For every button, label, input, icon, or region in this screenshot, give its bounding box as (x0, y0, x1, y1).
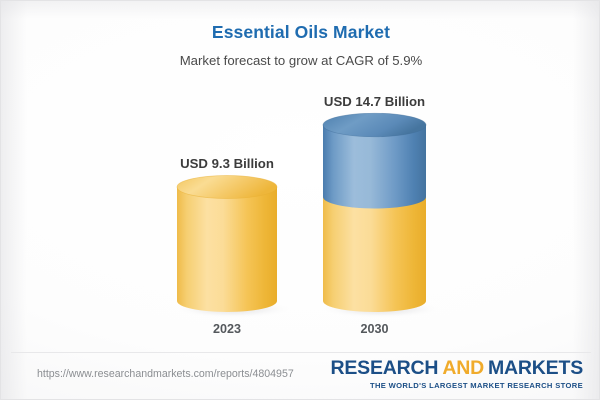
bar-category-label-2030: 2030 (323, 322, 426, 336)
infographic-canvas: Essential Oils Market Market forecast to… (0, 0, 600, 400)
footer: https://www.researchandmarkets.com/repor… (1, 352, 600, 399)
logo-wordmark: RESEARCHANDMARKETS (330, 358, 583, 379)
bar-category-label-2023: 2023 (177, 322, 277, 336)
chart-subtitle: Market forecast to grow at CAGR of 5.9% (1, 43, 600, 68)
report-url-link[interactable]: https://www.researchandmarkets.com/repor… (37, 368, 294, 380)
logo-word-and: AND (438, 357, 488, 379)
page-title: Essential Oils Market (1, 1, 600, 43)
research-and-markets-logo[interactable]: RESEARCHANDMARKETS THE WORLD'S LARGEST M… (330, 358, 583, 390)
chart-header: Essential Oils Market Market forecast to… (1, 1, 600, 68)
logo-word-markets: MARKETS (488, 357, 583, 379)
logo-tagline: THE WORLD'S LARGEST MARKET RESEARCH STOR… (330, 379, 583, 390)
logo-word-research: RESEARCH (330, 357, 438, 379)
footer-divider (11, 352, 591, 353)
